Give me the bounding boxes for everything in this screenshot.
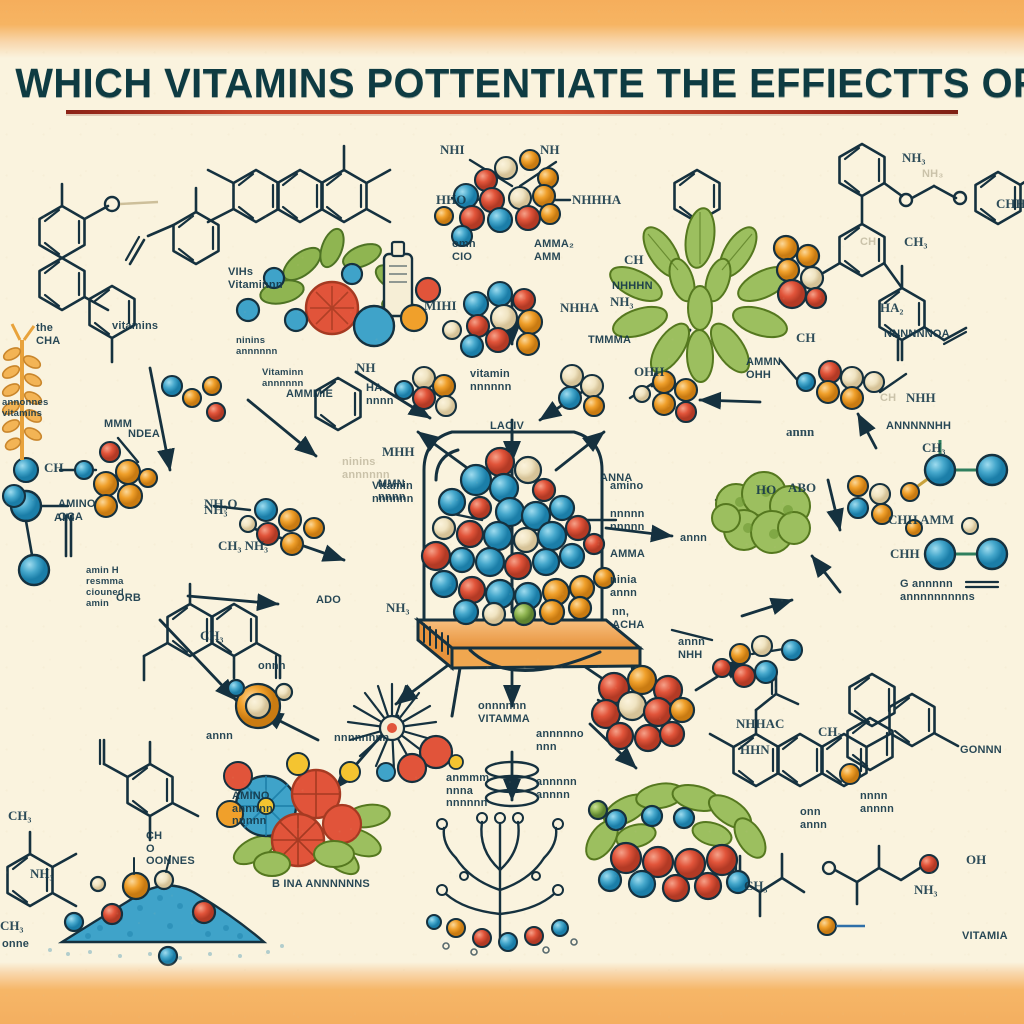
berry-vegetable-bottom-right: [592, 666, 694, 751]
label-ndea: NDEA: [128, 428, 160, 441]
atom-label-ch3-bl2: CH₃: [0, 918, 23, 934]
label-mmn: MMN nnnn: [378, 478, 406, 503]
label-vitamins-left: vitamins: [112, 320, 158, 333]
atom-label-ohh: OHH: [634, 364, 664, 380]
ghost-label-1: NH₃: [922, 168, 944, 181]
bottom-border-band: [0, 962, 1024, 1024]
label-onn-annn-br: onn annn: [800, 806, 827, 831]
atom-label-ch3-nh3: CH₃ NH₃: [218, 538, 268, 554]
atom-label-chh: CHH: [890, 546, 920, 562]
label-annn-nhh-br: annn NHH: [678, 636, 705, 661]
label-tmmma: TMMMA: [588, 334, 631, 347]
label-aim: AIM: [54, 512, 75, 525]
branching-tree-bottom-center: [427, 813, 577, 955]
label-gonnn: GONNN: [960, 744, 1002, 757]
label-anmmm-nnna: anmmm nnna nnnnnn: [446, 772, 489, 810]
molecule-cluster-lower-right-small: [713, 636, 802, 687]
label-ninins: ninins annnnnn: [236, 336, 278, 358]
atom-label-nh3-bl: NH₃: [30, 866, 53, 882]
atom-label-hho: HHO: [436, 192, 466, 208]
atom-label-ha2-rt: HA₂: [880, 300, 903, 316]
chemical-structure-top-left-b: [90, 188, 219, 362]
atom-label-nhhac: NHHAC: [736, 716, 784, 732]
label-annnnno-nnn: annnnno nnn: [536, 728, 584, 753]
molecule-cluster-center-right-cloud: [848, 476, 892, 524]
atom-label-ch3-br2: CH₃: [744, 878, 767, 894]
label-oh-oonnes: CH O OONNES: [146, 830, 195, 868]
atom-label-chh-rt: CHH: [996, 196, 1024, 212]
atom-label-nh-mid: NH: [356, 360, 376, 376]
atom-label-nh3-br: NH₃: [914, 882, 937, 898]
label-annnnnnhh: ANNNNNHH: [886, 420, 951, 433]
atom-label-chh-amm: CHH AMM: [888, 512, 954, 528]
atom-label-ch-rt: CH: [624, 252, 644, 268]
chemical-structure-top-center: [208, 146, 390, 222]
label-ammn-ohh: AMMN OHH: [746, 356, 781, 381]
atom-label-abo: ABO: [788, 480, 816, 496]
atom-label-ch3-left: CH₃: [200, 628, 223, 644]
molecule-cluster-right-upper: [559, 365, 604, 416]
label-nnnnnnnn-bm: nnnnnnnn: [334, 732, 389, 745]
atom-label-nh3-r: NH₃: [610, 294, 633, 310]
atom-label-mihi: MIHI: [424, 298, 457, 314]
label-onne: onne: [2, 938, 29, 951]
atom-label-ch3-bl: CH₃: [8, 808, 31, 824]
ghost-label-2: CH: [860, 236, 876, 249]
label-annonnes: annonnes vitamins: [2, 398, 48, 420]
leafy-greens-upper-right: [605, 206, 826, 382]
atom-label-annn-r: annn: [786, 424, 814, 440]
atom-label-ch-left: CH: [44, 460, 64, 476]
ghost-label-4: ninins annnnnn: [342, 456, 390, 481]
label-vihs-vitaminnn: VIHs Vitaminnn: [228, 266, 283, 291]
molecule-cluster-upper-mid: [395, 367, 456, 416]
molecule-cluster-right-far: [797, 361, 884, 409]
molecule-cluster-center-mid: [443, 282, 542, 357]
label-ado: ADO: [316, 594, 341, 607]
atom-label-nhi: NHI: [440, 142, 465, 158]
molecule-cluster-core: [422, 448, 614, 625]
atom-label-nh3-mid: NH₃: [386, 600, 409, 616]
label-nnnnnnoa: NNNNNNOA: [884, 328, 950, 341]
label-onnn-bm: onnn: [258, 660, 286, 673]
label-amino-nigga: annn: [206, 730, 233, 743]
atom-label-ch3-r: CH₃: [922, 440, 945, 456]
label-nnnnn-core: nnnnn nnnnn: [610, 508, 645, 533]
label-annn-right: annn: [680, 532, 707, 545]
chemical-structure-bottom-left: [100, 740, 198, 840]
poster-canvas: WHICH VITAMINS POTTENTIATE THE EFFIECTTS…: [0, 0, 1024, 1024]
top-border-band: [0, 0, 1024, 58]
label-laciv: LACIV: [490, 420, 524, 433]
atom-label-hhn: HHN: [740, 742, 770, 758]
atom-label-ch-r: CH: [796, 330, 816, 346]
label-b-ina-annnnnns: B INA ANNNNNNS: [272, 878, 370, 891]
label-nn-acha-core: nn, ACHA: [612, 606, 645, 631]
atom-label-nhha: NHHA: [560, 300, 599, 316]
ghost-label-3: CH: [880, 392, 896, 405]
illustration-layer: [0, 0, 1024, 1024]
label-nnnn-annnn-br: nnnn annnn: [860, 790, 894, 815]
atom-label-ho-right: HO: [756, 482, 776, 498]
label-vitamin-core: vitamin nnnnnn: [470, 368, 512, 393]
atom-label-nh3-rt: NH₃: [902, 150, 925, 166]
label-orb: ORB: [116, 592, 141, 605]
label-omn-cio: omn CIO: [452, 238, 476, 263]
label-onnnnnn-vitamma: onnnnnn VITAMMA: [478, 700, 530, 725]
atom-label-ch3-rt: CH₃: [904, 234, 927, 250]
label-amma2: AMMA₂ AMM: [534, 238, 574, 263]
label-ninia-core: ninia annn: [610, 574, 637, 599]
label-amino-core: amino: [610, 480, 643, 493]
atom-label-ch3-br: CH₃: [818, 724, 841, 740]
label-vitaminn: Vitaminn annnnnn: [262, 368, 304, 390]
label-the-cha: the CHA: [36, 322, 60, 347]
atom-label-nhh: NHH: [906, 390, 936, 406]
atom-label-nh-t: NH: [540, 142, 560, 158]
label-g-annnnn: G annnnn annnnnnnnns: [900, 578, 975, 603]
page-title: WHICH VITAMINS POTTENTIATE THE EFFIECTTS…: [15, 60, 1008, 107]
label-nhhhn: NHHHN: [612, 280, 653, 293]
atom-label-oh-br: OH: [966, 852, 986, 868]
label-amma-core: AMMA: [610, 548, 645, 561]
poster-header: WHICH VITAMINS POTTENTIATE THE EFFIECTTS…: [0, 60, 1024, 107]
atom-label-nh3o: NH₃O: [204, 496, 238, 512]
label-ammmie: AMMMIE: [286, 388, 333, 401]
chemical-structure-hex-mid-left: [316, 378, 361, 430]
atom-label-nhhha: NHHHA: [572, 192, 621, 208]
blue-granule-mound: [48, 856, 284, 965]
label-annnnn-annnn: annnnn annnn: [536, 776, 577, 801]
label-ha-nnnn: HA nnnn: [366, 382, 394, 407]
label-vitamia: VITAMIA: [962, 930, 1008, 943]
label-amino-bl: AMINO annnnn nnnnn: [232, 790, 273, 828]
title-underline: [66, 110, 958, 114]
molecule-cluster-mid-left: [162, 376, 225, 421]
